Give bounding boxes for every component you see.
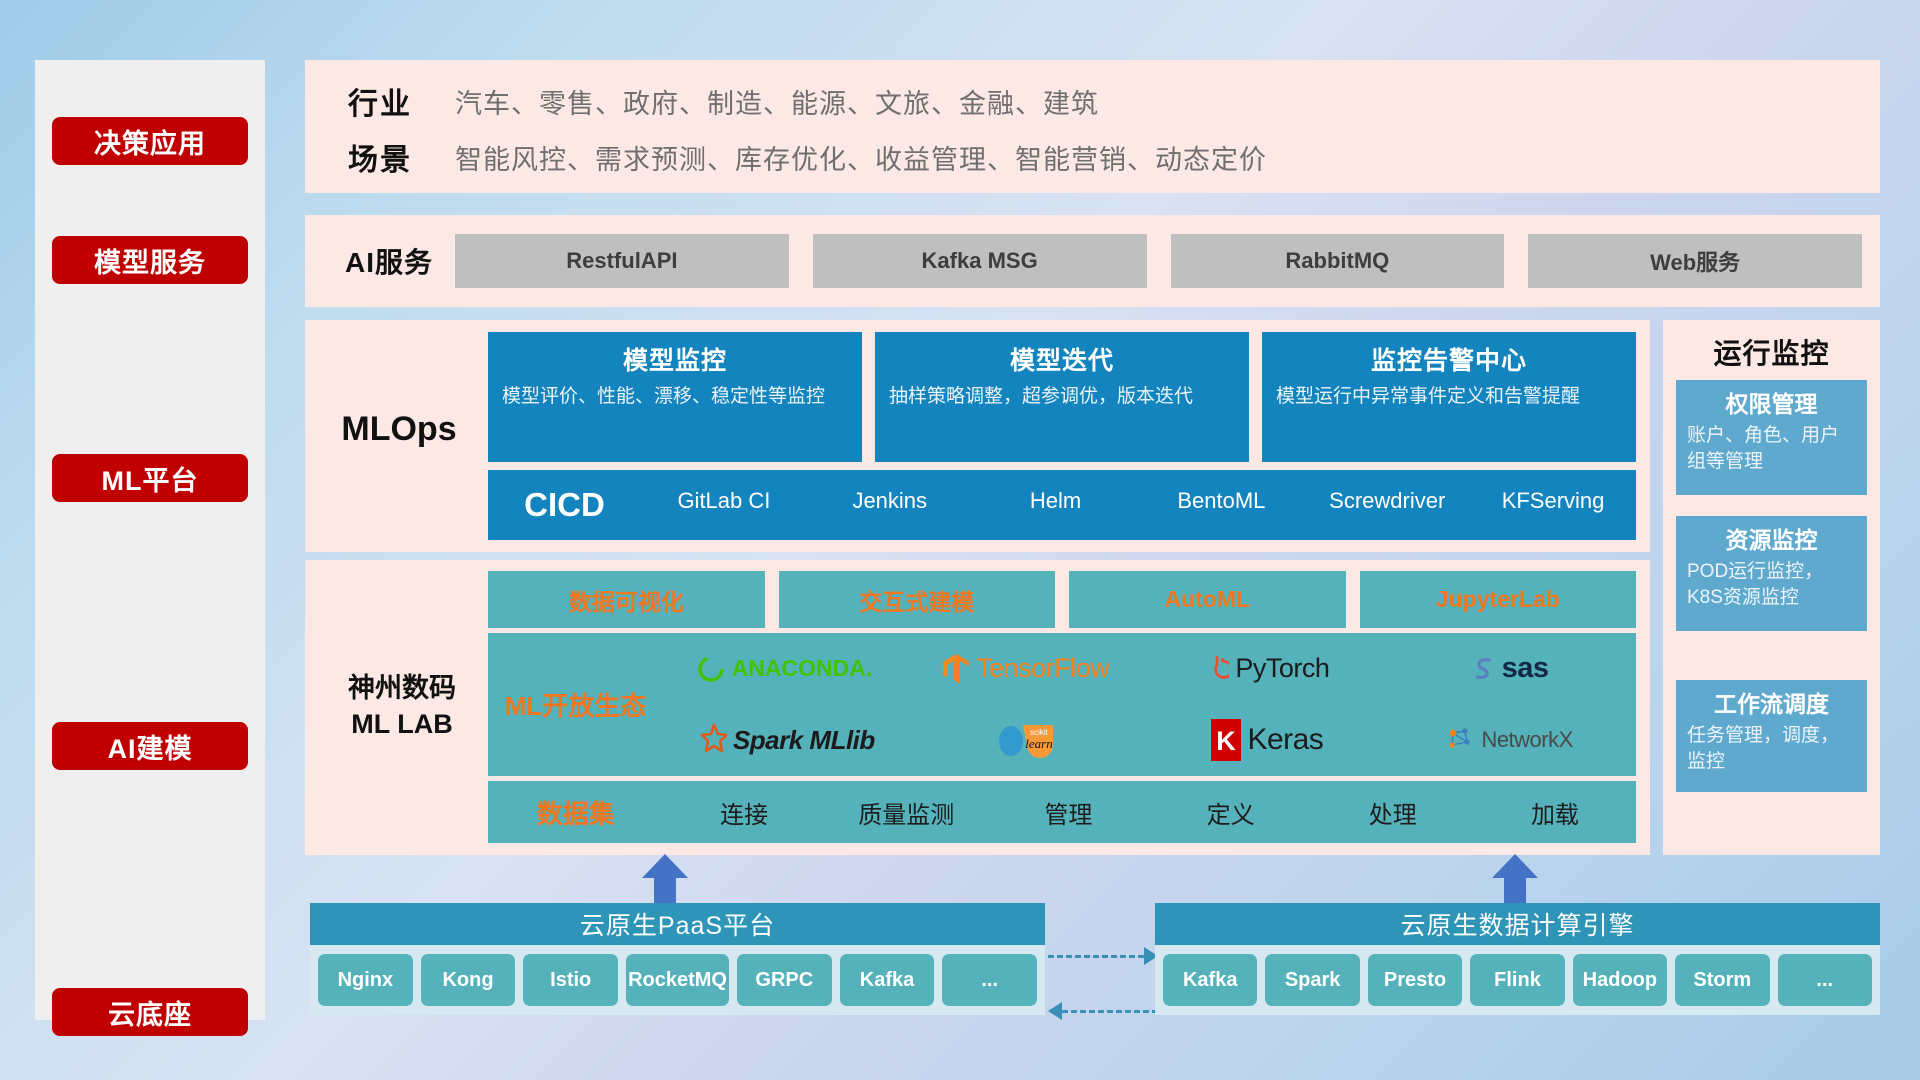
paas-chip-nginx[interactable]: Nginx xyxy=(318,954,413,1006)
ml-lab-label: 神州数码 ML LAB xyxy=(317,670,487,743)
keras-wordmark: Keras xyxy=(1247,723,1323,757)
card-title: 模型监控 xyxy=(502,341,848,377)
ai-service-chip-restfulapi[interactable]: RestfulAPI xyxy=(455,234,789,288)
mlops-panel: MLOps 模型监控 模型评价、性能、漂移、稳定性等监控 模型迭代 抽样策略调整… xyxy=(305,320,1650,552)
mlops-card-model-iteration[interactable]: 模型迭代 抽样策略调整，超参调优，版本迭代 xyxy=(875,332,1249,462)
sas-logo: sas xyxy=(1470,652,1549,685)
anaconda-icon xyxy=(696,654,726,684)
ml-lab-tool-list: 数据可视化 交互式建模 AutoML JupyterLab xyxy=(488,571,1636,628)
keras-logo: K Keras xyxy=(1211,719,1323,761)
data-engine-chip-storm[interactable]: Storm xyxy=(1675,954,1769,1006)
dataset-item-process[interactable]: 处理 xyxy=(1312,795,1474,830)
ml-lab-label-line1: 神州数码 xyxy=(317,670,487,706)
dataset-item-load[interactable]: 加载 xyxy=(1474,795,1636,830)
data-engine-chip-more[interactable]: ... xyxy=(1778,954,1872,1006)
rail-label: 模型服务 xyxy=(94,241,206,280)
data-engine-chip-presto[interactable]: Presto xyxy=(1368,954,1462,1006)
mlops-card-list: 模型监控 模型评价、性能、漂移、稳定性等监控 模型迭代 抽样策略调整，超参调优，… xyxy=(488,332,1636,462)
card-desc: POD运行监控，K8S资源监控 xyxy=(1687,559,1856,611)
dashed-line xyxy=(1048,955,1144,958)
rail-item-model-service[interactable]: 模型服务 xyxy=(52,236,248,284)
paas-chip-more[interactable]: ... xyxy=(942,954,1037,1006)
paas-chip-grpc[interactable]: GRPC xyxy=(737,954,832,1006)
ml-lab-label-line2: ML LAB xyxy=(317,706,487,742)
mlops-label: MLOps xyxy=(319,410,479,449)
ml-lab-panel: 神州数码 ML LAB 数据可视化 交互式建模 AutoML JupyterLa… xyxy=(305,560,1650,855)
paas-title: 云原生PaaS平台 xyxy=(310,903,1045,945)
cicd-item-screwdriver[interactable]: Screwdriver xyxy=(1304,490,1470,512)
ml-ecosystem-logo-grid: ANACONDA. TensorFlow PyTorch xyxy=(663,633,1636,776)
anaconda-logo: ANACONDA. xyxy=(696,654,873,684)
dataset-label: 数据集 xyxy=(488,794,663,831)
card-desc: 模型运行中异常事件定义和告警提醒 xyxy=(1276,384,1622,410)
svg-text:K: K xyxy=(1217,726,1237,756)
up-arrow-paas-icon xyxy=(640,854,690,906)
card-desc: 账户、角色、用户组等管理 xyxy=(1687,423,1856,475)
anaconda-wordmark: ANACONDA. xyxy=(732,655,873,682)
keras-icon: K xyxy=(1211,719,1241,761)
data-engine-chip-hadoop[interactable]: Hadoop xyxy=(1573,954,1667,1006)
dataset-item-define[interactable]: 定义 xyxy=(1150,795,1312,830)
monitoring-card-resource[interactable]: 资源监控 POD运行监控，K8S资源监控 xyxy=(1676,516,1867,631)
card-desc: 模型评价、性能、漂移、稳定性等监控 xyxy=(502,384,848,410)
data-engine-chip-spark[interactable]: Spark xyxy=(1265,954,1359,1006)
card-title: 资源监控 xyxy=(1687,521,1856,555)
monitoring-card-workflow[interactable]: 工作流调度 任务管理，调度，监控 xyxy=(1676,680,1867,792)
networkx-logo: NetworkX xyxy=(1445,725,1572,755)
data-engine-chip-list: Kafka Spark Presto Flink Hadoop Storm ..… xyxy=(1155,945,1880,1015)
rail-label: AI建模 xyxy=(108,727,193,766)
ml-ecosystem-row: ML开放生态 ANACONDA. TensorFlow xyxy=(488,633,1636,776)
card-title: 权限管理 xyxy=(1687,385,1856,419)
svg-text:learn: learn xyxy=(1025,736,1052,751)
card-desc: 任务管理，调度，监控 xyxy=(1687,723,1856,775)
data-engine-chip-kafka[interactable]: Kafka xyxy=(1163,954,1257,1006)
ml-lab-tool-interactive-modeling[interactable]: 交互式建模 xyxy=(779,571,1056,628)
data-engine-title: 云原生数据计算引擎 xyxy=(1155,903,1880,945)
dataset-row: 数据集 连接 质量监测 管理 定义 处理 加载 xyxy=(488,781,1636,843)
rail-item-ai-modeling[interactable]: AI建模 xyxy=(52,722,248,770)
ai-service-chip-web-service[interactable]: Web服务 xyxy=(1528,234,1862,288)
dataset-item-connect[interactable]: 连接 xyxy=(663,795,825,830)
rail-item-decision-app[interactable]: 决策应用 xyxy=(52,117,248,165)
dataset-item-quality-monitor[interactable]: 质量监测 xyxy=(825,795,987,830)
decision-app-panel: 行业 汽车、零售、政府、制造、能源、文旅、金融、建筑 场景 智能风控、需求预测、… xyxy=(305,60,1880,193)
scenario-label: 场景 xyxy=(305,135,455,179)
cicd-label: CICD xyxy=(488,486,641,524)
card-title: 模型迭代 xyxy=(889,341,1235,377)
rail-label: 云底座 xyxy=(108,993,192,1032)
pytorch-icon xyxy=(1205,654,1229,684)
sas-icon xyxy=(1470,654,1496,684)
data-engine-stack: 云原生数据计算引擎 Kafka Spark Presto Flink Hadoo… xyxy=(1155,903,1880,1015)
ml-lab-tool-data-visualization[interactable]: 数据可视化 xyxy=(488,571,765,628)
dashed-arrow-right xyxy=(1048,947,1158,965)
card-desc: 抽样策略调整，超参调优，版本迭代 xyxy=(889,384,1235,410)
dataset-item-manage[interactable]: 管理 xyxy=(987,795,1149,830)
rail-label: ML平台 xyxy=(102,459,199,498)
mlops-card-model-monitoring[interactable]: 模型监控 模型评价、性能、漂移、稳定性等监控 xyxy=(488,332,862,462)
networkx-wordmark: NetworkX xyxy=(1481,727,1572,753)
spark-star-icon xyxy=(693,723,727,757)
ai-service-chip-list: RestfulAPI Kafka MSG RabbitMQ Web服务 xyxy=(455,234,1862,288)
tensorflow-logo: TensorFlow xyxy=(942,653,1109,685)
cicd-bar: CICD GitLab CI Jenkins Helm BentoML Scre… xyxy=(488,470,1636,540)
monitoring-card-permission[interactable]: 权限管理 账户、角色、用户组等管理 xyxy=(1676,380,1867,495)
card-title: 工作流调度 xyxy=(1687,685,1856,719)
paas-chip-list: Nginx Kong Istio RocketMQ GRPC Kafka ... xyxy=(310,945,1045,1015)
cicd-item-helm[interactable]: Helm xyxy=(973,490,1139,512)
dashed-line xyxy=(1062,1010,1158,1013)
left-rail: 决策应用 模型服务 ML平台 AI建模 云底座 xyxy=(35,60,265,1020)
monitoring-title: 运行监控 xyxy=(1663,320,1880,372)
pytorch-wordmark: PyTorch xyxy=(1235,653,1329,684)
card-title: 监控告警中心 xyxy=(1276,341,1622,377)
pytorch-logo: PyTorch xyxy=(1205,653,1329,684)
cicd-item-gitlab-ci[interactable]: GitLab CI xyxy=(641,490,807,512)
spark-mllib-logo: Spark MLlib xyxy=(693,723,875,757)
rail-item-cloud-base[interactable]: 云底座 xyxy=(52,988,248,1036)
paas-chip-kafka[interactable]: Kafka xyxy=(840,954,935,1006)
scikit-learn-logo: scikit learn xyxy=(995,720,1057,760)
cicd-item-bentoml[interactable]: BentoML xyxy=(1138,490,1304,512)
ml-lab-tool-automl[interactable]: AutoML xyxy=(1069,571,1346,628)
scenario-value: 智能风控、需求预测、库存优化、收益管理、智能营销、动态定价 xyxy=(455,138,1267,177)
cicd-item-jenkins[interactable]: Jenkins xyxy=(807,490,973,512)
paas-chip-kong[interactable]: Kong xyxy=(421,954,516,1006)
ai-service-chip-rabbitmq[interactable]: RabbitMQ xyxy=(1171,234,1505,288)
industry-label: 行业 xyxy=(305,79,455,123)
cicd-item-kfserving[interactable]: KFServing xyxy=(1470,490,1636,512)
data-engine-chip-flink[interactable]: Flink xyxy=(1470,954,1564,1006)
industry-value: 汽车、零售、政府、制造、能源、文旅、金融、建筑 xyxy=(455,82,1099,121)
spark-wordmark: Spark MLlib xyxy=(733,725,875,756)
rail-item-ml-platform[interactable]: ML平台 xyxy=(52,454,248,502)
sas-wordmark: sas xyxy=(1502,652,1549,685)
paas-chip-rocketmq[interactable]: RocketMQ xyxy=(626,954,729,1006)
scenario-row: 场景 智能风控、需求预测、库存优化、收益管理、智能营销、动态定价 xyxy=(305,132,1880,182)
tensorflow-icon xyxy=(942,653,970,685)
ml-ecosystem-label: ML开放生态 xyxy=(488,686,663,723)
ai-service-label: AI服务 xyxy=(323,241,455,281)
networkx-icon xyxy=(1445,725,1475,755)
tensorflow-wordmark: TensorFlow xyxy=(976,653,1109,684)
scikit-learn-icon: scikit learn xyxy=(995,720,1057,760)
paas-stack: 云原生PaaS平台 Nginx Kong Istio RocketMQ GRPC… xyxy=(310,903,1045,1015)
monitoring-panel: 运行监控 权限管理 账户、角色、用户组等管理 资源监控 POD运行监控，K8S资… xyxy=(1663,320,1880,855)
mlops-card-alert-center[interactable]: 监控告警中心 模型运行中异常事件定义和告警提醒 xyxy=(1262,332,1636,462)
ai-service-panel: AI服务 RestfulAPI Kafka MSG RabbitMQ Web服务 xyxy=(305,215,1880,307)
ai-service-chip-kafka-msg[interactable]: Kafka MSG xyxy=(813,234,1147,288)
ml-lab-tool-jupyterlab[interactable]: JupyterLab xyxy=(1360,571,1637,628)
arrowhead-left-icon xyxy=(1048,1002,1062,1020)
industry-row: 行业 汽车、零售、政府、制造、能源、文旅、金融、建筑 xyxy=(305,76,1880,126)
dataset-item-list: 连接 质量监测 管理 定义 处理 加载 xyxy=(663,795,1636,830)
dashed-arrow-left xyxy=(1048,1002,1158,1020)
rail-label: 决策应用 xyxy=(94,122,206,161)
up-arrow-data-engine-icon xyxy=(1490,854,1540,906)
paas-chip-istio[interactable]: Istio xyxy=(523,954,618,1006)
